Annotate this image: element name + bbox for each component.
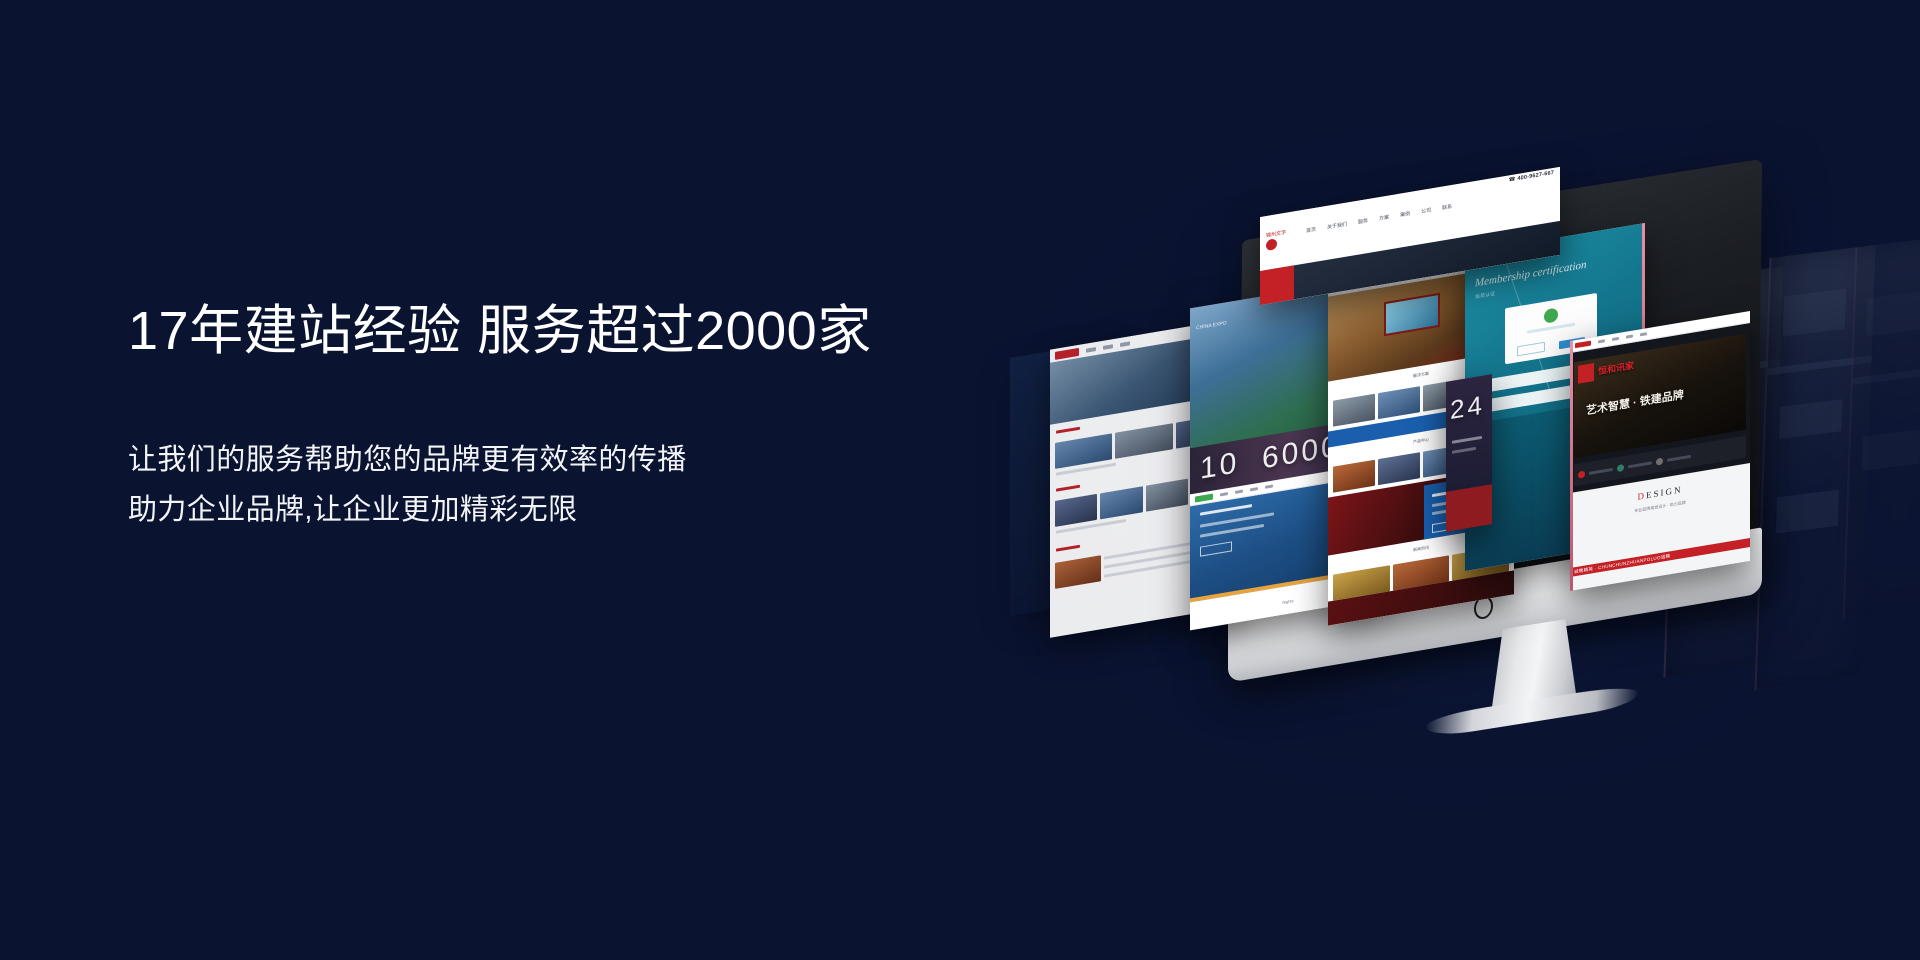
site-logo-icon (1195, 493, 1213, 502)
screenshot-stack: CHINA EXPO 10 6000 (1010, 230, 1770, 650)
cancel-button[interactable] (1517, 342, 1545, 357)
hero-subtitle-line-2: 助力企业品牌,让企业更加精彩无限 (128, 486, 988, 536)
hero-subtitle-block: 让我们的服务帮助您的品牌更有效率的传播 助力企业品牌,让企业更加精彩无限 (128, 436, 988, 536)
nav-item[interactable]: 方案 (1379, 214, 1389, 223)
site-brand-name: 锦州文字 (1266, 229, 1286, 239)
nav-item[interactable]: 首页 (1306, 226, 1316, 235)
screenshot-dark-exhibit: 恒和讯家 艺术智慧 · 铁建品牌 DESIGN 专业品牌视觉设计 · (1570, 311, 1750, 591)
ghost-screen (1843, 234, 1920, 619)
hero-subtitle-line-1: 让我们的服务帮助您的品牌更有效率的传播 (128, 436, 988, 486)
showcase-monitor: CHINA EXPO 10 6000 (1240, 200, 1920, 820)
nav-item[interactable]: 案例 (1400, 210, 1410, 219)
cert-subtitle: 会员认证 (1475, 290, 1495, 300)
site-nav: 首页 关于我们 服务 方案 案例 公司 联系 (1306, 203, 1452, 234)
nav-item[interactable]: 联系 (1442, 203, 1452, 212)
stat-left: 10 (1200, 448, 1239, 485)
hero-banner: 17年建站经验 服务超过2000家 让我们的服务帮助您的品牌更有效率的传播 助力… (0, 0, 1920, 960)
check-badge-icon (1544, 307, 1558, 323)
page-title: 17年建站经验 服务超过2000家 (128, 300, 988, 364)
nav-item[interactable]: 关于我们 (1327, 221, 1347, 231)
screenshot-stat-24: 24 (1446, 374, 1492, 532)
site-logo-icon (1575, 341, 1591, 349)
hero-copy: 17年建站经验 服务超过2000家 让我们的服务帮助您的品牌更有效率的传播 助力… (128, 300, 988, 535)
contact-phone: ☎ 400-9627-667 (1509, 170, 1554, 184)
site-logo-icon (1266, 238, 1277, 251)
stat-24: 24 (1450, 391, 1485, 423)
screen-edge-accent (1570, 341, 1573, 592)
nav-item[interactable]: 公司 (1421, 206, 1431, 215)
nav-item[interactable]: 服务 (1358, 217, 1368, 226)
